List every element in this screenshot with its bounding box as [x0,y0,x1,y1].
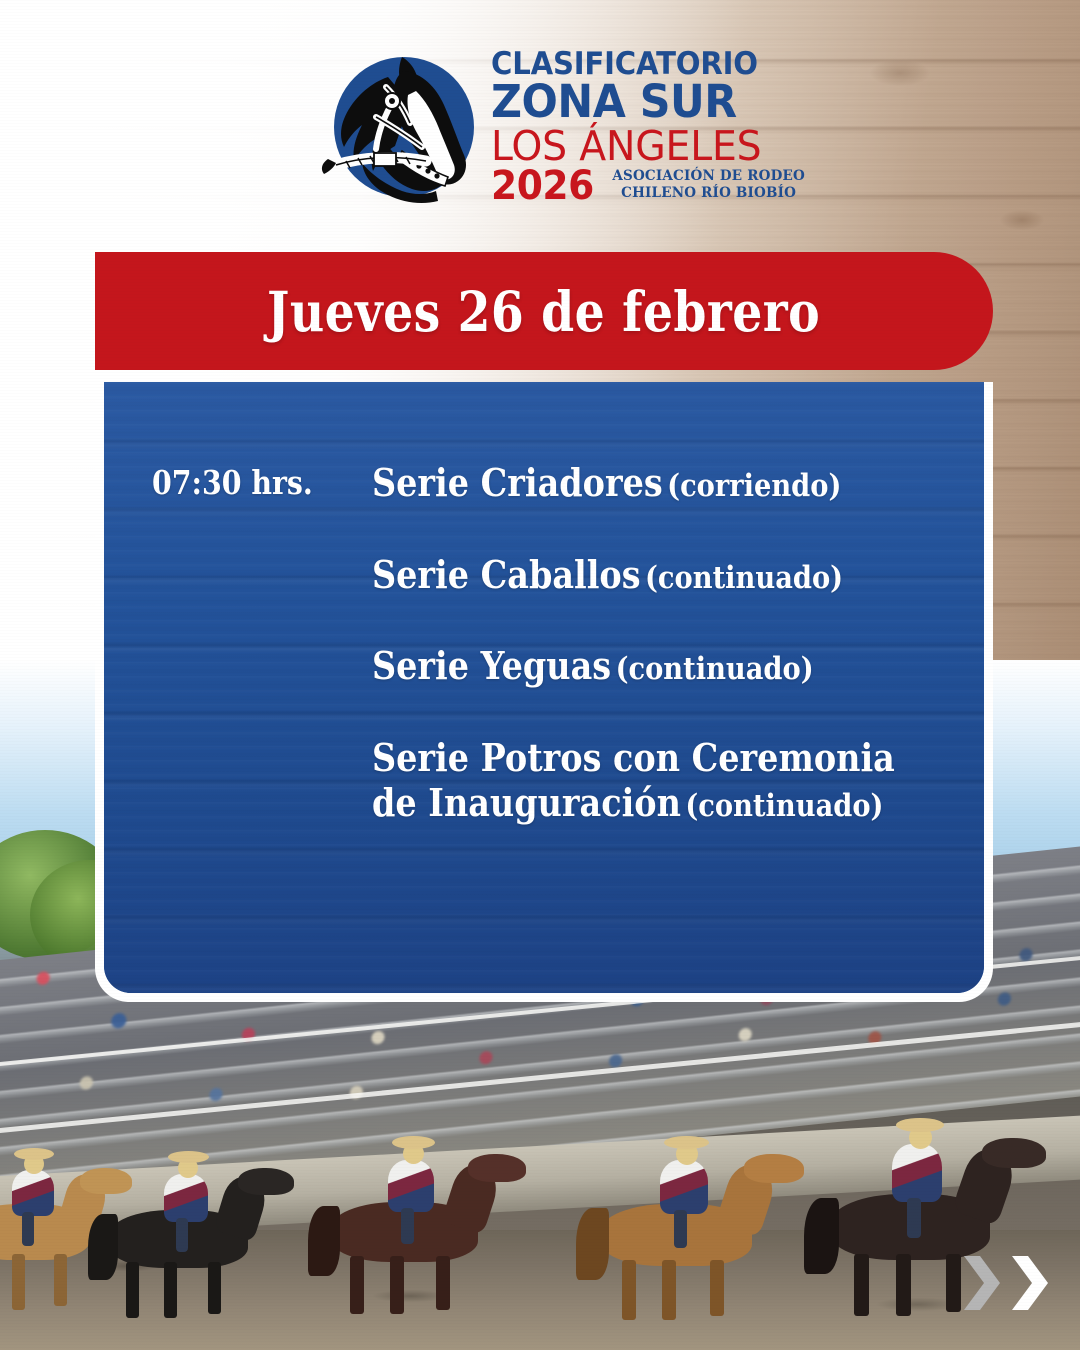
schedule-event-note: (continuado) [685,788,883,824]
schedule-event-note: (corriendo) [667,468,841,504]
schedule-row: Serie Caballos (continuado) [104,552,984,598]
date-banner: Jueves 26 de febrero [95,252,993,370]
logo-line-los-angeles: LOS ÁNGELES [491,125,792,168]
chevron-group [960,1254,1050,1312]
horse-head-emblem-icon [318,43,483,208]
schedule-panel: 07:30 hrs. Serie Criadores (corriendo) S… [104,382,984,993]
logo-org-line-2: CHILENO RÍO BIOBÍO [612,185,805,201]
schedule-event-name-line2: de Inauguración [372,780,681,825]
schedule-panel-frame: 07:30 hrs. Serie Criadores (corriendo) S… [95,382,993,1002]
schedule-time [152,552,341,557]
schedule-time [152,643,341,648]
schedule-time [152,735,341,740]
logo-organization: ASOCIACIÓN DE RODEO CHILENO RÍO BIOBÍO [612,168,805,201]
schedule-time: 07:30 hrs. [152,460,341,502]
chevron-right-icon [1008,1254,1050,1312]
schedule-row: Serie Potros con Ceremoniade Inauguració… [104,735,984,826]
horse-and-rider [330,1158,550,1313]
horse-and-rider [108,1172,318,1317]
logo-wordmark: CLASIFICATORIO ZONA SUR LOS ÁNGELES 2026… [491,45,805,206]
logo-org-line-1: ASOCIACIÓN DE RODEO [612,168,805,184]
schedule-description: Serie Criadores (corriendo) [372,460,956,506]
schedule-event-name-line1: Serie Potros con Ceremonia [372,735,895,780]
chevron-right-icon [960,1254,1002,1312]
schedule-description: Serie Caballos (continuado) [372,552,956,598]
logo-year: 2026 [491,166,594,206]
schedule-event-name: Serie Criadores [372,460,663,505]
schedule-rows: 07:30 hrs. Serie Criadores (corriendo) S… [104,382,984,826]
poster-canvas: CLASIFICATORIO ZONA SUR LOS ÁNGELES 2026… [0,0,1080,1350]
schedule-row: Serie Yeguas (continuado) [104,643,984,689]
logo-line-zona-sur: ZONA SUR [491,79,789,125]
horse-and-rider [600,1160,830,1320]
schedule-event-note: (continuado) [616,651,814,687]
schedule-event-note: (continuado) [645,560,843,596]
event-logo: CLASIFICATORIO ZONA SUR LOS ÁNGELES 2026… [318,38,768,213]
schedule-row: 07:30 hrs. Serie Criadores (corriendo) [104,460,984,506]
schedule-description: Serie Potros con Ceremoniade Inauguració… [372,735,966,826]
date-banner-title: Jueves 26 de febrero [267,279,820,344]
schedule-event-name: Serie Yeguas [372,643,611,688]
schedule-description: Serie Yeguas (continuado) [372,643,956,689]
schedule-event-name: Serie Caballos [372,552,641,597]
